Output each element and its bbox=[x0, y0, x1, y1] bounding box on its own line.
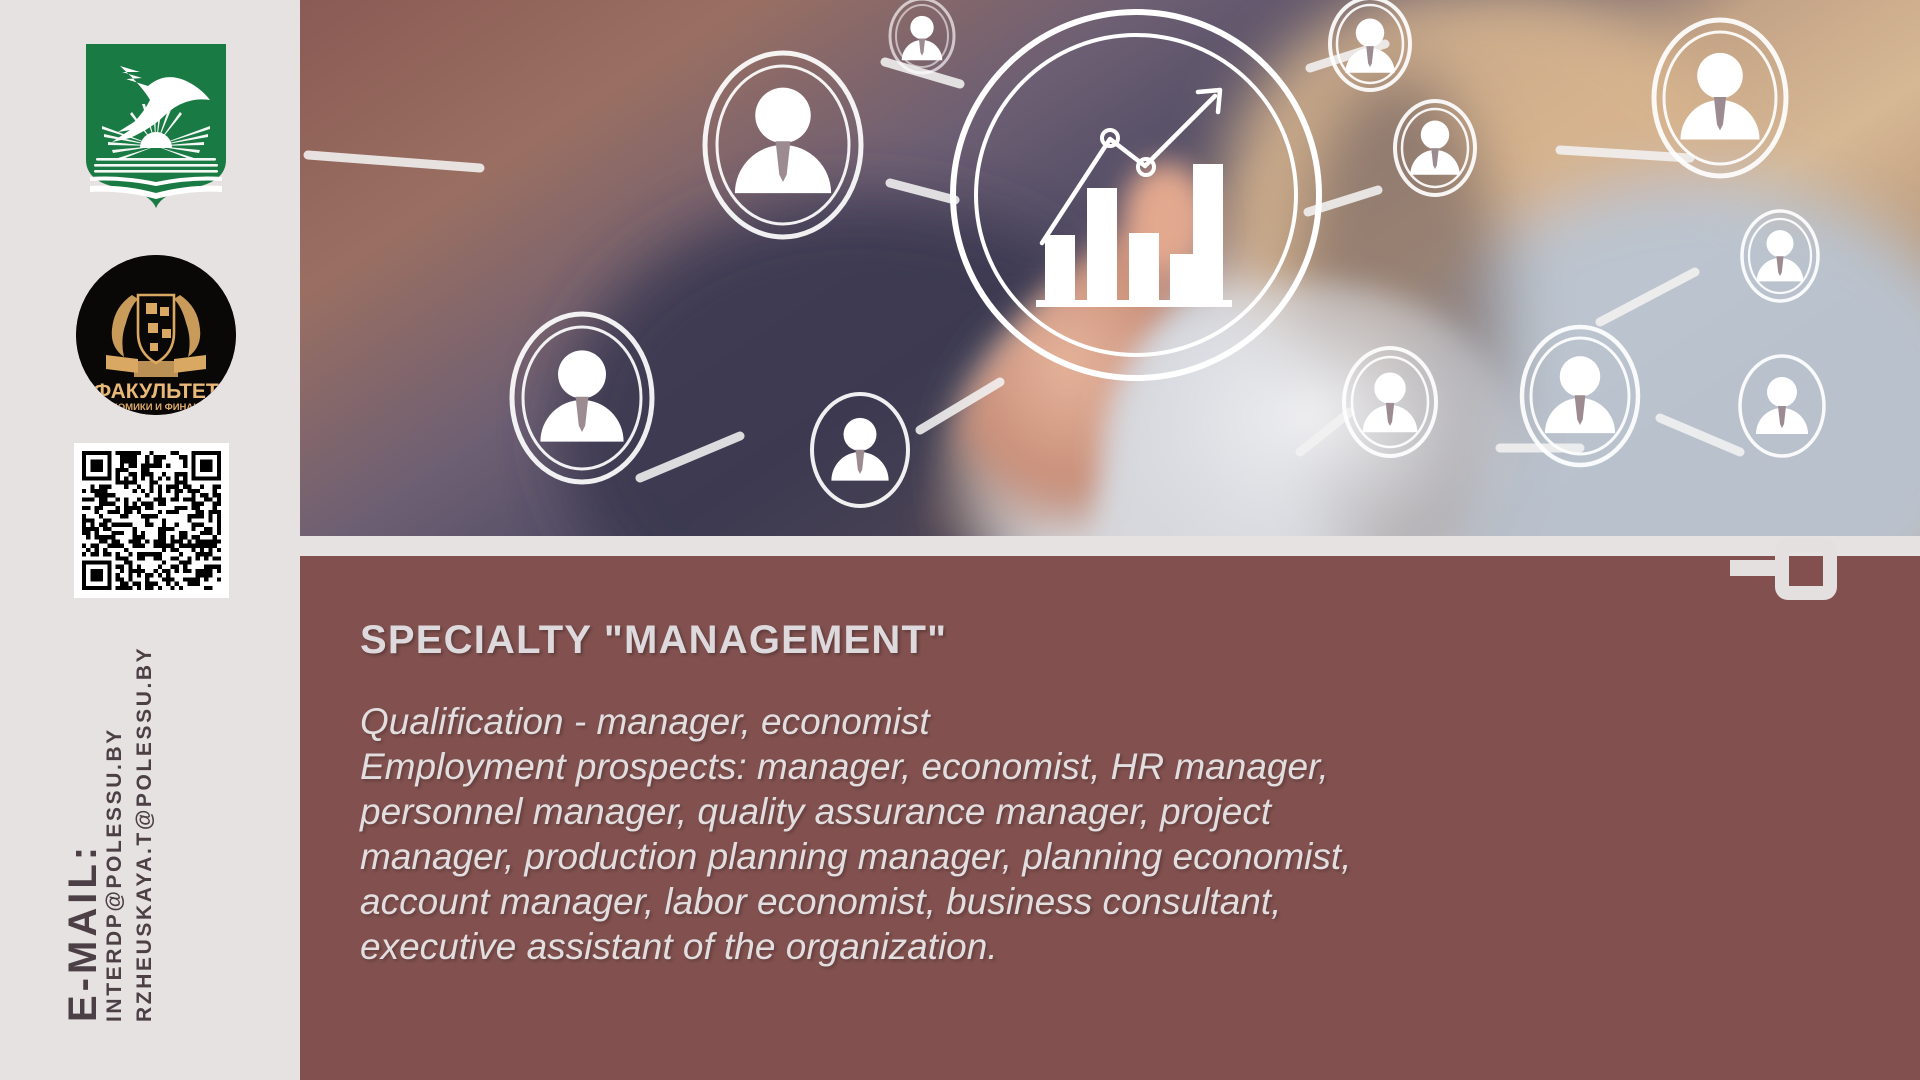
qr-code-canvas bbox=[82, 451, 221, 590]
email-addresses[interactable]: INTERDP@POLESSU.BY RZHEUSKAYA.T@POLESSU.… bbox=[100, 646, 160, 1022]
faculty-logo-icon: ФАКУЛЬТЕТ ЭКОНОМИКИ И ФИНАНСОВ bbox=[76, 255, 236, 415]
sidebar: ФАКУЛЬТЕТ ЭКОНОМИКИ И ФИНАНСОВ E-MAIL: I… bbox=[0, 0, 300, 1080]
rounded-square-decoration-icon bbox=[1775, 538, 1837, 600]
description-line: manager, production planning manager, pl… bbox=[360, 834, 1850, 879]
description-line: account manager, labor economist, busine… bbox=[360, 879, 1850, 924]
email-address-2[interactable]: RZHEUSKAYA.T@POLESSU.BY bbox=[130, 646, 160, 1022]
main-content: SPECIALTY "MANAGEMENT" Qualification - m… bbox=[300, 0, 1920, 1080]
poster-root: ФАКУЛЬТЕТ ЭКОНОМИКИ И ФИНАНСОВ E-MAIL: I… bbox=[0, 0, 1920, 1080]
email-address-1[interactable]: INTERDP@POLESSU.BY bbox=[100, 646, 130, 1022]
description-line: executive assistant of the organization. bbox=[360, 924, 1850, 969]
info-panel: SPECIALTY "MANAGEMENT" Qualification - m… bbox=[300, 556, 1920, 1080]
description-text: Qualification - manager, economist Emplo… bbox=[360, 699, 1850, 969]
description-line: personnel manager, quality assurance man… bbox=[360, 789, 1850, 834]
description-line: Qualification - manager, economist bbox=[360, 699, 1850, 744]
faculty-logo-line1: ФАКУЛЬТЕТ bbox=[93, 380, 219, 403]
polessu-coat-of-arms-icon bbox=[82, 42, 230, 202]
email-block: E-MAIL: INTERDP@POLESSU.BY RZHEUSKAYA.T@… bbox=[0, 600, 300, 1080]
page-title: SPECIALTY "MANAGEMENT" bbox=[360, 618, 1850, 663]
qr-code[interactable] bbox=[74, 443, 229, 598]
faculty-logo-line2: ЭКОНОМИКИ И ФИНАНСОВ bbox=[91, 402, 221, 413]
hero-image bbox=[300, 0, 1920, 536]
description-line: Employment prospects: manager, economist… bbox=[360, 744, 1850, 789]
